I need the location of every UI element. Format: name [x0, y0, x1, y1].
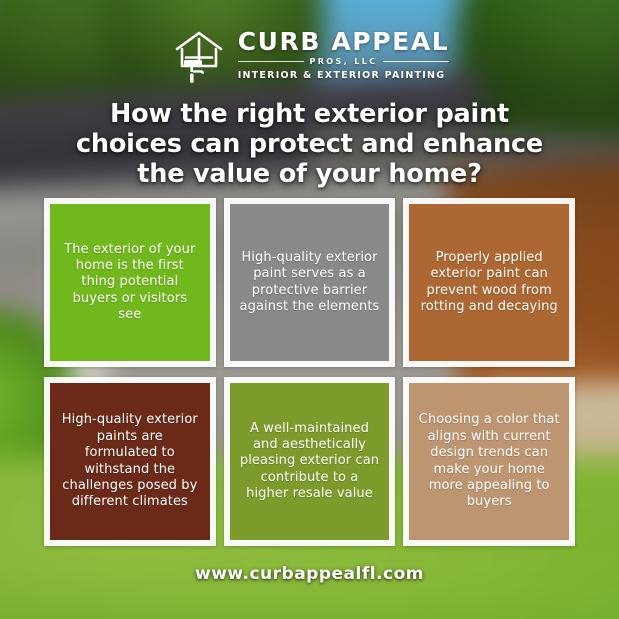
brand-logo: CURB APPEAL PROS, LLC INTERIOR & EXTERIO… [0, 26, 619, 84]
benefit-card: A well-maintained and aesthetically plea… [224, 377, 396, 546]
infographic-poster: CURB APPEAL PROS, LLC INTERIOR & EXTERIO… [0, 0, 619, 619]
poster-content: CURB APPEAL PROS, LLC INTERIOR & EXTERIO… [0, 0, 619, 619]
benefit-card: Choosing a color that aligns with curren… [403, 377, 575, 546]
benefit-card-grid: The exterior of your home is the first t… [44, 198, 575, 546]
benefit-card-text: Properly applied exterior paint can prev… [418, 250, 560, 316]
brand-tagline: INTERIOR & EXTERIOR PAINTING [238, 70, 446, 81]
benefit-card-body: Choosing a color that aligns with curren… [409, 383, 569, 540]
website-url[interactable]: www.curbappealfl.com [0, 564, 619, 584]
brand-logo-text: CURB APPEAL PROS, LLC INTERIOR & EXTERIO… [238, 29, 450, 81]
benefit-card-body: Properly applied exterior paint can prev… [409, 204, 569, 361]
benefit-card: Properly applied exterior paint can prev… [403, 198, 575, 367]
benefit-card: High-quality exterior paints are formula… [44, 377, 216, 546]
benefit-card-body: High-quality exterior paint serves as a … [230, 204, 390, 361]
brand-name: CURB APPEAL [238, 29, 450, 54]
benefit-card-text: The exterior of your home is the first t… [59, 242, 201, 324]
benefit-card-body: High-quality exterior paints are formula… [50, 383, 210, 540]
brand-rule-left [238, 61, 305, 62]
benefit-card: High-quality exterior paint serves as a … [224, 198, 396, 367]
brand-sub: PROS, LLC [309, 57, 377, 66]
benefit-card: The exterior of your home is the first t… [44, 198, 216, 367]
benefit-card-body: The exterior of your home is the first t… [50, 204, 210, 361]
brand-sub-row: PROS, LLC [238, 57, 450, 66]
page-title: How the right exterior paint choices can… [28, 100, 591, 189]
headline-line-1: How the right exterior paint [28, 100, 591, 130]
benefit-card-text: High-quality exterior paints are formula… [59, 412, 201, 510]
benefit-card-body: A well-maintained and aesthetically plea… [230, 383, 390, 540]
house-paint-roller-icon [170, 26, 228, 84]
benefit-card-text: A well-maintained and aesthetically plea… [239, 421, 381, 503]
headline-line-3: the value of your home? [28, 160, 591, 190]
brand-rule-right [383, 61, 450, 62]
benefit-card-text: Choosing a color that aligns with curren… [418, 412, 560, 510]
headline-line-2: choices can protect and enhance [28, 130, 591, 160]
benefit-card-text: High-quality exterior paint serves as a … [239, 250, 381, 316]
